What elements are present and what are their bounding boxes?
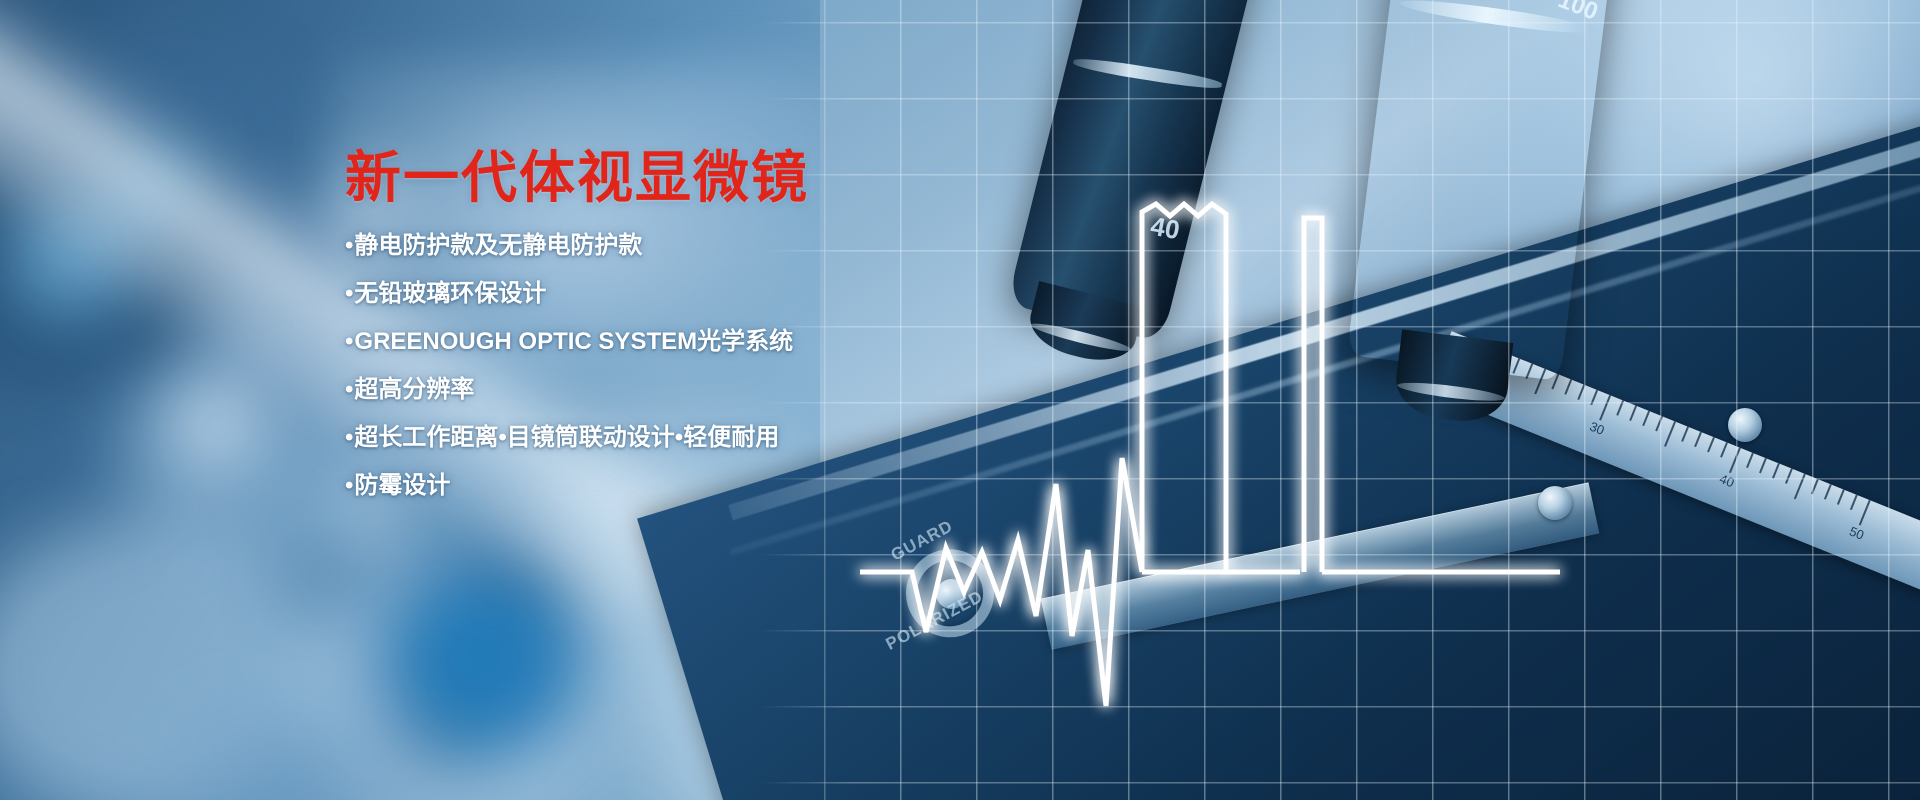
feature-text: 无铅玻璃环保设计 — [354, 280, 546, 307]
ruler-number-3: 50 — [1847, 523, 1866, 542]
banner-copy: 新一代体视显微镜 •静电防护款及无静电防护款 •无铅玻璃环保设计 •GREENO… — [345, 150, 965, 522]
list-item: •GREENOUGH OPTIC SYSTEM光学系统 — [345, 330, 965, 354]
stage-screw-left — [1538, 486, 1572, 520]
feature-list: •静电防护款及无静电防护款 •无铅玻璃环保设计 •GREENOUGH OPTIC… — [345, 234, 965, 498]
list-item: •静电防护款及无静电防护款 — [345, 234, 965, 258]
bullet-marker-icon: • — [345, 424, 353, 451]
bullet-marker-icon: • — [345, 472, 353, 499]
list-item: •无铅玻璃环保设计 — [345, 282, 965, 306]
feature-text: 超高分辨率 — [354, 376, 474, 403]
list-item: •超长工作距离•目镜筒联动设计•轻便耐用 — [345, 426, 965, 450]
feature-text: 超长工作距离•目镜筒联动设计•轻便耐用 — [354, 424, 779, 451]
objective-rear-band — [1073, 55, 1223, 91]
ruler-number-2: 40 — [1717, 471, 1736, 490]
page-title: 新一代体视显微镜 — [345, 150, 965, 206]
bullet-marker-icon: • — [345, 328, 353, 355]
bullet-marker-icon: • — [345, 376, 353, 403]
feature-text: 静电防护款及无静电防护款 — [354, 232, 642, 259]
ruler-number-1: 30 — [1588, 419, 1607, 438]
objective-rear-magnification: 40 — [1148, 211, 1182, 247]
microscope-scene: GUARD POLARIZED — [820, 0, 1920, 800]
list-item: •超高分辨率 — [345, 378, 965, 402]
feature-text: GREENOUGH OPTIC SYSTEM光学系统 — [354, 328, 793, 355]
feature-text: 防霉设计 — [354, 472, 450, 499]
stage-screw-right — [1728, 408, 1762, 442]
bullet-marker-icon: • — [345, 280, 353, 307]
list-item: •防霉设计 — [345, 474, 965, 498]
bullet-marker-icon: • — [345, 232, 353, 259]
product-banner: GUARD POLARIZED — [0, 0, 1920, 800]
